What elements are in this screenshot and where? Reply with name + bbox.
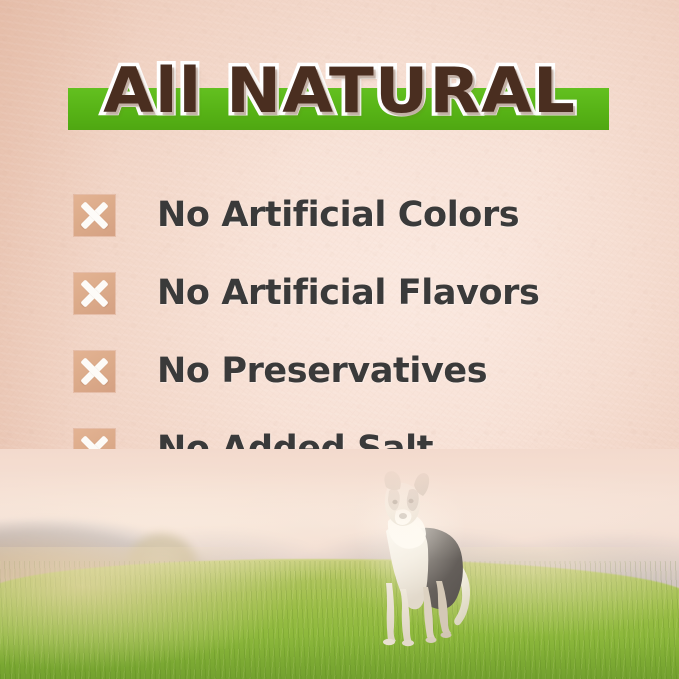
x-mark-icon bbox=[74, 273, 115, 314]
lifestyle-photo bbox=[0, 449, 679, 679]
x-mark-icon bbox=[74, 195, 115, 236]
photo-grass-haze bbox=[0, 547, 679, 679]
claim-label: No Artificial Colors bbox=[157, 195, 519, 235]
x-mark-icon bbox=[74, 351, 115, 392]
list-item: No Artificial Flavors bbox=[74, 254, 634, 332]
dog-figure bbox=[362, 471, 480, 647]
product-feature-poster: All NATURAL No Artificial Colors No Arti… bbox=[0, 0, 679, 679]
claim-label: No Preservatives bbox=[157, 351, 487, 391]
headline-banner: All NATURAL bbox=[0, 48, 679, 140]
claim-label: No Artificial Flavors bbox=[157, 273, 539, 313]
claims-list: No Artificial Colors No Artificial Flavo… bbox=[74, 176, 634, 488]
page-title: All NATURAL bbox=[0, 48, 679, 134]
list-item: No Artificial Colors bbox=[74, 176, 634, 254]
list-item: No Preservatives bbox=[74, 332, 634, 410]
